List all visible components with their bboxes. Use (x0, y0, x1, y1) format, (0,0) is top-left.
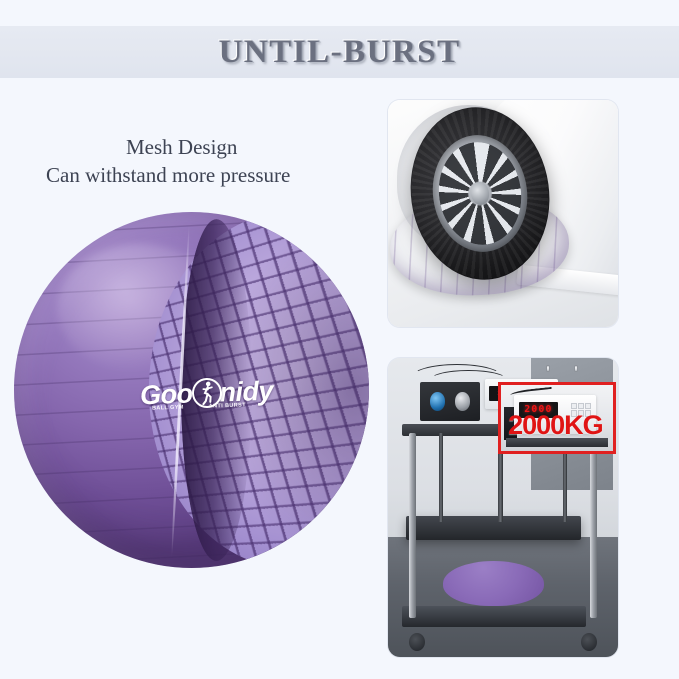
caption-line-secondary: Can withstand more pressure (46, 162, 376, 190)
switch-knob-left (546, 365, 550, 373)
pressure-gauge-blue (430, 392, 446, 411)
support-column-left (409, 433, 416, 618)
hose-2 (429, 370, 507, 391)
caster-left (409, 633, 425, 651)
switch-knob-right (574, 365, 578, 373)
car-tire-on-ball-photo (388, 100, 618, 327)
hydraulic-press-test-photo: 2000 2000 2000KG (388, 358, 618, 657)
page-title: UNTIL-BURST (218, 34, 460, 71)
support-column-right (590, 433, 597, 618)
zoom-callout-inset: 2000 2000KG (498, 382, 615, 454)
press-platen (406, 516, 581, 540)
logo-tagline-left: BALL GYM (152, 405, 184, 412)
ball-under-press (443, 561, 544, 606)
base-platform (402, 606, 586, 627)
exercise-ball-illustration (14, 212, 369, 568)
caption-line-primary: Mesh Design (46, 134, 376, 162)
pressure-gauge-gray (455, 392, 471, 411)
weight-label: 2000KG (508, 412, 603, 439)
header-banner: UNTIL-BURST (0, 26, 679, 78)
tie-rod-left (439, 433, 443, 523)
feature-caption: Mesh Design Can withstand more pressure (46, 134, 376, 190)
ball-surface (14, 212, 369, 568)
cutaway-edge-shadow (181, 219, 252, 561)
